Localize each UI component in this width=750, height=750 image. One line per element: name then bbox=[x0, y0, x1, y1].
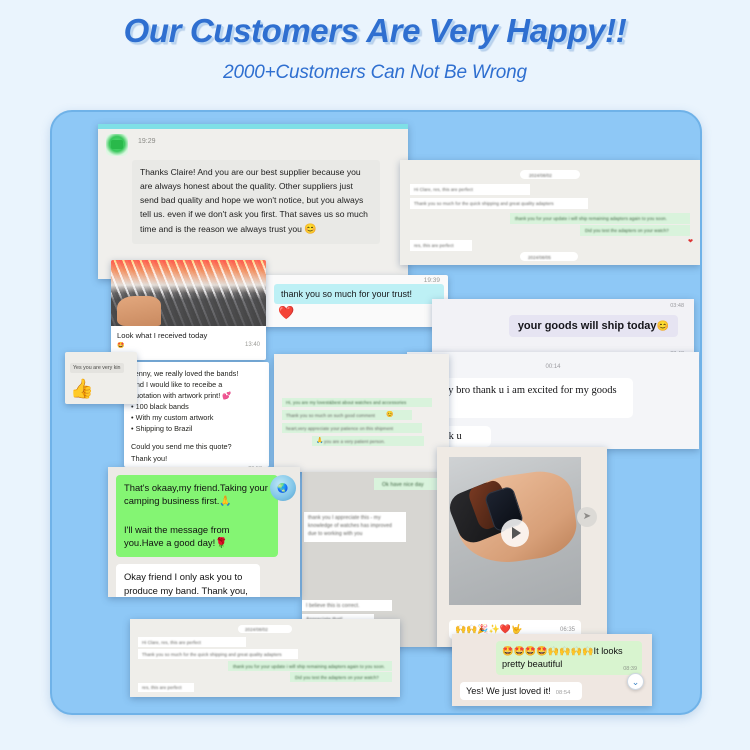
chevron-down-icon[interactable]: ⌄ bbox=[627, 673, 644, 690]
rose-icon: 🌹 bbox=[215, 538, 227, 549]
message-bubble-outgoing: thank you so much for your trust! bbox=[274, 284, 444, 304]
loved-it-text: Yes! We just loved it! bbox=[466, 686, 551, 696]
message-text: Thanks Claire! And you are our best supp… bbox=[140, 167, 368, 234]
mid-line-1: Hi, you are my lovest&best about watches… bbox=[286, 400, 406, 405]
message-bubble-green: That's okaay,my friend.Taking your campi… bbox=[116, 475, 278, 557]
green-line-1: That's okaay,my friend.Taking your bbox=[124, 482, 268, 493]
low-line-1: thank you I appreciate this - my bbox=[308, 515, 381, 521]
beautiful-text-2: pretty beautiful bbox=[502, 659, 562, 669]
page-header: Our Customers Are Very Happy!! 2000+Cust… bbox=[0, 0, 750, 84]
low-bubble-1: I believe this is correct. bbox=[306, 603, 359, 609]
card-green-bubbles[interactable]: 🌏 That's okaay,my friend.Taking your cam… bbox=[108, 467, 300, 597]
received-product-photo bbox=[111, 260, 266, 326]
pray-icon: 🙏 bbox=[219, 496, 231, 507]
white-line-2: produce my band. Thank you, bbox=[124, 585, 248, 596]
blurred-green-2: Did you test the adapters on your watch? bbox=[295, 675, 379, 680]
mid-line-3: heart,very appreciate your patience on t… bbox=[286, 426, 393, 431]
message-bubble-excited: Hi my bro thank u i am excited for my go… bbox=[419, 378, 633, 418]
heart-icon: ❤️ bbox=[278, 305, 448, 321]
beautiful-text-1: It looks bbox=[594, 646, 623, 656]
card-mid-green-chat[interactable]: Hi, you are my lovest&best about watches… bbox=[274, 354, 449, 472]
card-beautiful-feedback[interactable]: 🤩🤩🤩🤩🙌🙌🙌🙌It looks pretty beautiful 08:39 … bbox=[452, 634, 652, 706]
page-title: Our Customers Are Very Happy!! bbox=[0, 12, 750, 50]
quote-bullet-2: • With my custom artwork bbox=[131, 412, 262, 423]
message-time: 08:54 bbox=[556, 690, 571, 696]
forward-icon[interactable]: ➤ bbox=[577, 507, 597, 527]
card-teal-thanks[interactable]: 19:39 thank you so much for your trust! … bbox=[248, 275, 448, 327]
chat-date: 2024/08/02 bbox=[245, 627, 268, 632]
globe-sticker-icon: 🌏 bbox=[270, 475, 296, 501]
chat-header-row: 19:29 bbox=[98, 129, 408, 156]
blurred-green-2: Did you test the adapters on your watch? bbox=[585, 228, 669, 233]
message-time-top: 03:48 bbox=[670, 303, 684, 309]
smile-icon: 😊 bbox=[386, 411, 393, 418]
avatar bbox=[106, 134, 128, 156]
low-line-2: knowledge of watches has improved bbox=[308, 523, 392, 529]
blurred-green-1: thank you for your update i will ship re… bbox=[515, 216, 667, 221]
thumbs-up-icon: 👍 bbox=[70, 377, 132, 401]
blurred-line-1: Hi Clare, res, this are perfect bbox=[142, 640, 201, 645]
mid-line-4: you are a very patient person. bbox=[324, 439, 385, 444]
page-subtitle: 2000+Customers Can Not Be Wrong bbox=[0, 62, 750, 84]
quote-bullet-1: • 100 black bands bbox=[131, 401, 262, 412]
green-line-3: I'll wait the message from bbox=[124, 524, 229, 535]
quote-line-4: Could you send me this quote? bbox=[131, 441, 262, 452]
reaction-emojis: 🤩🤩🤩🤩🙌🙌🙌🙌 bbox=[502, 646, 594, 656]
testimonials-panel: 19:29 Thanks Claire! And you are our bes… bbox=[50, 110, 702, 715]
reaction-emoji: 🤩 bbox=[117, 342, 124, 349]
message-bubble-green: 🤩🤩🤩🤩🙌🙌🙌🙌It looks pretty beautiful 08:39 bbox=[496, 641, 642, 675]
card-blurred-chat-bottom[interactable]: 2024/08/02 Hi Clare, res, this are perfe… bbox=[130, 619, 400, 697]
quote-bullet-3: • Shipping to Brazil bbox=[131, 423, 262, 434]
photo-caption: Look what I received today bbox=[111, 326, 266, 340]
quote-line-2: And I would like to receibe a bbox=[131, 379, 262, 390]
blurred-line-2: Thank you so much for the quick shipping… bbox=[142, 652, 282, 657]
quote-line-5: Thank you! bbox=[131, 453, 262, 464]
message-bubble-white: Yes! We just loved it! 08:54 bbox=[460, 682, 582, 700]
quote-line-3-text: quotation with artwork print! bbox=[131, 391, 220, 400]
card-photo-received[interactable]: Look what I received today 🤩 13:40 bbox=[111, 260, 266, 360]
mid-line-2: Thank you so much on such good comment bbox=[286, 413, 375, 418]
play-icon[interactable] bbox=[501, 519, 529, 547]
message-bubble-white: Okay friend I only ask you to produce my… bbox=[116, 564, 260, 597]
message-bubble-incoming: Thanks Claire! And you are our best supp… bbox=[132, 160, 380, 244]
watch-video-thumbnail[interactable] bbox=[449, 457, 581, 605]
thumbs-card-text: Yes you are very kin bbox=[70, 363, 124, 373]
card-main-chat[interactable]: 19:29 Thanks Claire! And you are our bes… bbox=[98, 124, 408, 279]
white-line-1: Okay friend I only ask you to bbox=[124, 571, 242, 582]
quote-line-1: Jenny, we really loved the bands! bbox=[131, 368, 262, 379]
message-time: 19:29 bbox=[138, 134, 156, 145]
card-watch-video[interactable]: ➤ 🙌🙌🎉✨❤️🤟 06:35 bbox=[437, 447, 607, 647]
chat-date-2: 2024/08/05 bbox=[528, 255, 551, 260]
green-line-4: you.Have a good day! bbox=[124, 537, 215, 548]
green-line-2: camping business first. bbox=[124, 495, 219, 506]
card-blurred-chat-top[interactable]: 2024/08/02 Hi Clare, res, this are perfe… bbox=[400, 160, 700, 265]
card-quote-request[interactable]: Jenny, we really loved the bands! And I … bbox=[124, 362, 269, 467]
heart-icon: 💕 bbox=[222, 391, 231, 400]
message-bubble-ship: your goods will ship today😊 bbox=[509, 315, 678, 337]
heart-icon: ❤ bbox=[688, 238, 693, 245]
card-excited-goods[interactable]: 00:14 Hi my bro thank u i am excited for… bbox=[407, 352, 699, 449]
blurred-line-2: Thank you so much for the quick shipping… bbox=[414, 201, 554, 206]
message-time: 06:35 bbox=[560, 627, 575, 633]
message-time: 19:39 bbox=[424, 277, 440, 284]
low-top-green: Ok have nice day bbox=[382, 482, 424, 488]
chat-date: 00:14 bbox=[407, 352, 699, 370]
quote-line-3: quotation with artwork print! 💕 bbox=[131, 390, 262, 401]
low-line-3: due to working with you bbox=[308, 531, 363, 537]
ship-text: your goods will ship today bbox=[518, 320, 657, 332]
smile-icon: 😊 bbox=[304, 224, 316, 235]
blurred-line-3: res, this are perfect bbox=[414, 243, 454, 248]
chat-date: 2024/08/02 bbox=[529, 173, 552, 178]
excited-text: Hi my bro thank u i am excited for my go… bbox=[427, 385, 617, 396]
smile-icon: 😊 bbox=[657, 321, 669, 332]
blurred-line-1: Hi Clare, res, this are perfect bbox=[414, 187, 473, 192]
pray-icon: 🙏 bbox=[316, 437, 323, 444]
blurred-green-1: thank you for your update i will ship re… bbox=[233, 664, 385, 669]
message-time: 13:40 bbox=[245, 342, 260, 349]
photo-meta: 🤩 13:40 bbox=[111, 340, 266, 351]
blurred-line-3: res, this are perfect bbox=[142, 685, 182, 690]
card-thumbs-up[interactable]: Yes you are very kin 👍 bbox=[65, 352, 137, 404]
